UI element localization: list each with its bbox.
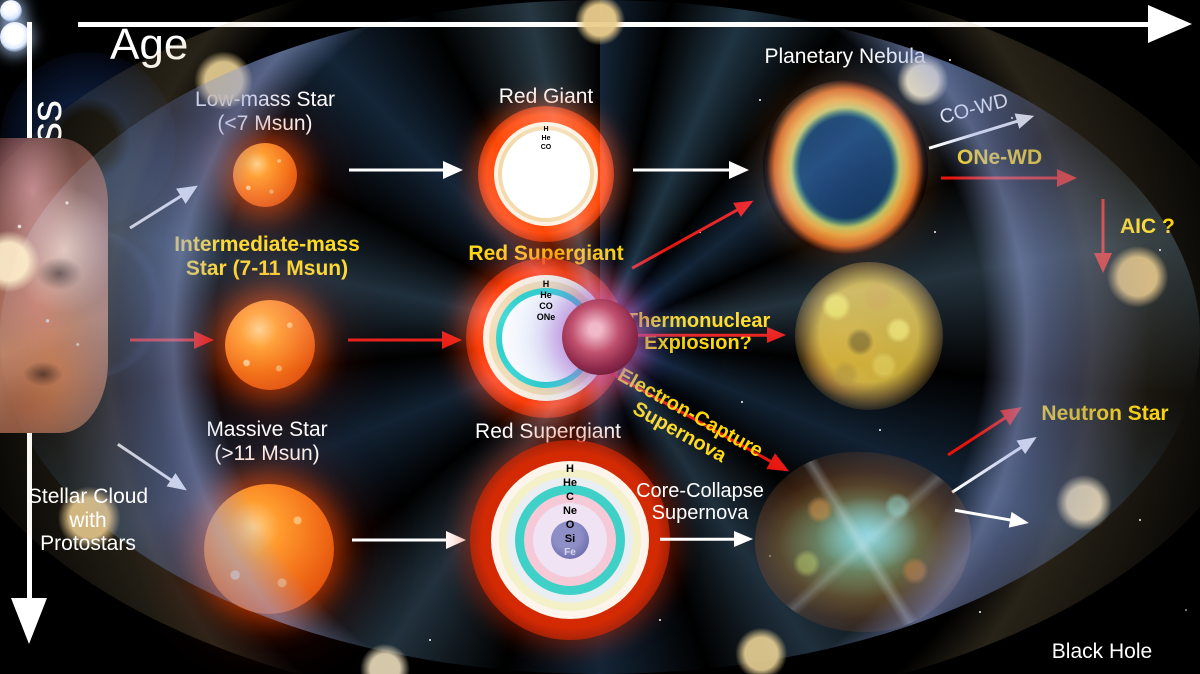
black-hole-photon-ring xyxy=(0,0,1200,674)
red-giant-layer-co: CO xyxy=(541,144,552,151)
rsg-mass-layer-h: H xyxy=(566,464,574,475)
one-white-dwarf xyxy=(0,22,30,52)
stellar-cloud-label-line3: Protostars xyxy=(40,532,136,555)
rsg-mass-layer-si: Si xyxy=(565,534,575,545)
red-giant-layer-he: He xyxy=(542,135,551,142)
stellar-cloud-label: Stellar CloudwithProtostars xyxy=(28,485,148,556)
rsg-int-layer-h: H xyxy=(543,280,550,289)
rsg-mass-layer-ne: Ne xyxy=(563,506,577,517)
black-hole-image xyxy=(0,228,166,380)
stellar-cloud-label-line2: with xyxy=(69,509,106,532)
rsg-int-layer-co: CO xyxy=(539,302,553,311)
rsg-mass-layer-o: O xyxy=(566,520,575,531)
age-axis-arrowhead xyxy=(1148,5,1192,43)
mass-axis-arrowhead xyxy=(11,598,47,644)
co-white-dwarf xyxy=(0,0,22,22)
black-hole-label: Black Hole xyxy=(1052,640,1152,664)
rsg-mass-layer-c: C xyxy=(566,492,574,503)
rsg-mass-layer-fe: Fe xyxy=(564,548,576,558)
red-giant-layer-h: H xyxy=(543,126,548,133)
rsg-int-layer-he: He xyxy=(540,291,552,300)
stellar-cloud-label-line1: Stellar Cloud xyxy=(28,485,148,508)
stellar-evolution-diagram: Age Mass Low-mass Star(<7 Msun) Red Gian… xyxy=(0,0,1200,674)
rsg-mass-layer-he: He xyxy=(563,478,577,489)
rsg-int-layer-one: ONe xyxy=(537,313,556,322)
